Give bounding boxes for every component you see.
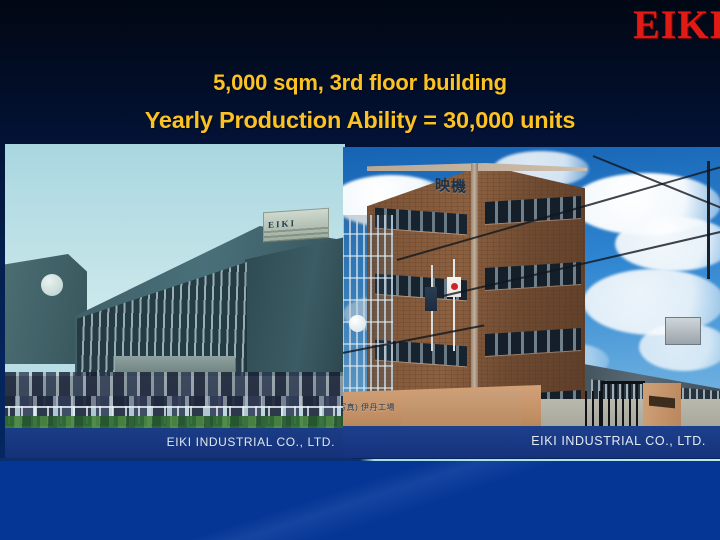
right-photo-caption-band: EIKI INDUSTRIAL CO., LTD. xyxy=(343,426,720,458)
right-photo-japanese-note: (写真) 伊丹工場 xyxy=(343,402,395,413)
page-title-line-2: Yearly Production Ability = 30,000 units xyxy=(0,104,720,136)
right-factory-photo: 映機 (写真) 伊丹工場 EIKI INDUSTRIAL CO., LTD. xyxy=(343,147,720,458)
right-photo-flag-dark xyxy=(425,287,437,311)
right-photo-flagpole-2 xyxy=(453,259,455,351)
slide-canvas: EIKI 5,000 sqm, 3rd floor building Yearl… xyxy=(0,0,720,540)
slide-title-block: 5,000 sqm, 3rd floor building Yearly Pro… xyxy=(0,68,720,136)
footer-diagonal-sweep xyxy=(0,460,720,540)
right-photo-corner-pilaster xyxy=(471,163,478,423)
right-photo-caption: EIKI INDUSTRIAL CO., LTD. xyxy=(531,434,706,448)
rooftop-sign-text: EIKI xyxy=(268,218,296,230)
slide-footer-band xyxy=(0,460,720,540)
footer-hairline xyxy=(0,459,720,461)
globe-lamp-icon xyxy=(349,315,366,332)
eiki-brand-logo: EIKI xyxy=(633,4,720,46)
page-title-line-1: 5,000 sqm, 3rd floor building xyxy=(0,68,720,98)
left-photo-caption-band: EIKI INDUSTRIAL CO., LTD. xyxy=(5,428,345,458)
left-photo-rooftop-sign: EIKI xyxy=(263,208,329,243)
satellite-dish-icon xyxy=(41,274,63,296)
left-photo-caption: EIKI INDUSTRIAL CO., LTD. xyxy=(167,435,335,449)
left-factory-photo: EIKI EIKI INDUSTRIAL CO., LTD. xyxy=(5,144,345,458)
right-photo-stair-treads xyxy=(343,215,393,411)
right-photo-facade-kanji-sign: 映機 xyxy=(435,174,467,197)
right-photo-utility-cabinet xyxy=(665,317,701,345)
right-photo-utility-pole xyxy=(707,161,710,279)
